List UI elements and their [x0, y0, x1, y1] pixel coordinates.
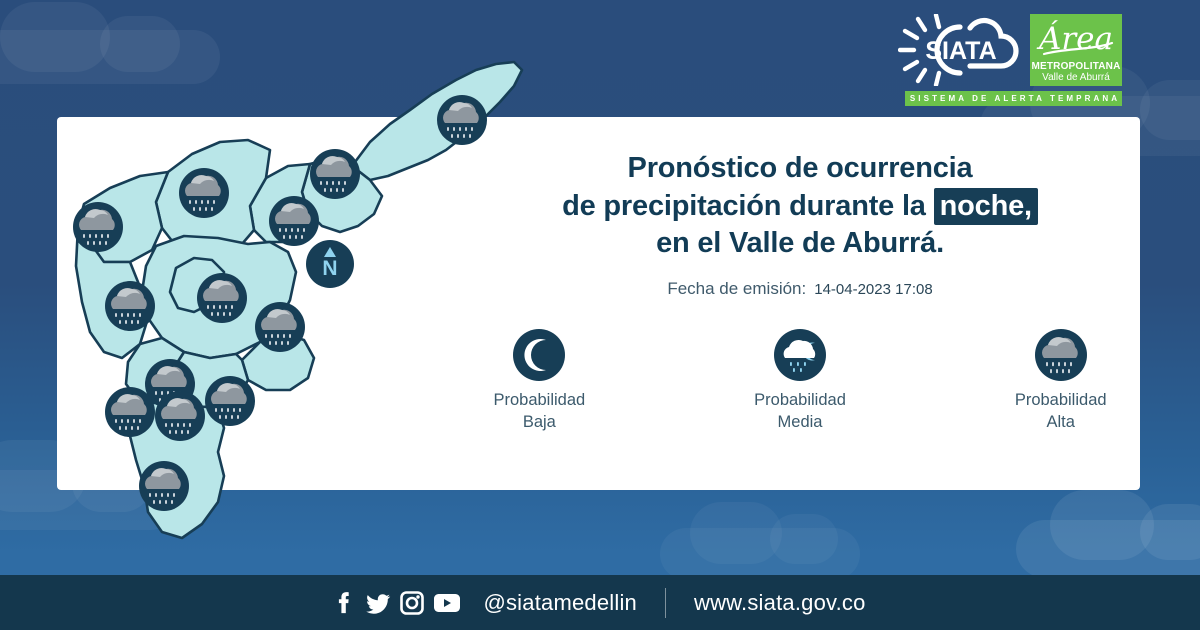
forecast-period-badge: noche, — [934, 188, 1038, 225]
headline-line-2: de precipitación durante la noche, — [470, 188, 1130, 226]
youtube-icon[interactable] — [433, 592, 461, 614]
instagram-icon[interactable] — [400, 591, 424, 615]
page-title: Pronóstico de ocurrencia de precipitació… — [470, 150, 1130, 263]
area-logo-line1: METROPOLITANA — [1031, 62, 1120, 73]
legend-label-alta-line1: Probabilidad — [1015, 391, 1107, 409]
legend-label-baja-line2: Baja — [493, 412, 585, 433]
emission-date-row: Fecha de emisión: 14-04-2023 17:08 — [470, 279, 1130, 299]
moon-icon — [513, 329, 565, 381]
website-url[interactable]: www.siata.gov.co — [694, 590, 866, 616]
map-marker-cloud-heavy-rain-icon[interactable] — [197, 273, 247, 323]
legend-label-media: Probabilidad Media — [754, 390, 846, 433]
probability-legend: Probabilidad Baja — [470, 329, 1130, 433]
area-script-wordmark: Área — [1036, 14, 1116, 62]
siata-wordmark: SIATA — [925, 37, 996, 65]
map-marker-cloud-heavy-rain-icon[interactable] — [73, 202, 123, 252]
background-cloud-icon — [1016, 520, 1200, 578]
map-marker-cloud-heavy-rain-icon[interactable] — [437, 95, 487, 145]
emission-date-value: 14-04-2023 17:08 — [814, 281, 932, 298]
headline-line-1: Pronóstico de ocurrencia — [470, 150, 1130, 188]
tagline-bar: SISTEMA DE ALERTA TEMPRANA — [905, 91, 1122, 106]
legend-item-media: Probabilidad Media — [731, 329, 870, 433]
map-marker-cloud-heavy-rain-icon[interactable] — [205, 376, 255, 426]
legend-label-baja: Probabilidad Baja — [493, 390, 585, 433]
map-marker-cloud-heavy-rain-icon[interactable] — [179, 168, 229, 218]
background-cloud-icon — [660, 528, 860, 580]
map-marker-cloud-heavy-rain-icon[interactable] — [269, 196, 319, 246]
social-handle[interactable]: @siatamedellin — [483, 590, 637, 616]
legend-label-alta-line2: Alta — [1015, 412, 1107, 433]
map-marker-cloud-heavy-rain-icon[interactable] — [255, 302, 305, 352]
map-marker-cloud-heavy-rain-icon[interactable] — [105, 387, 155, 437]
area-script-text: Área — [1036, 19, 1113, 57]
map-svg: N — [52, 46, 532, 566]
area-logo-line2: Valle de Aburrá — [1042, 73, 1110, 84]
forecast-panel: Pronóstico de ocurrencia de precipitació… — [470, 150, 1130, 433]
siata-logo: SIATA — [898, 14, 1020, 86]
legend-label-media-line2: Media — [754, 412, 846, 433]
compass-label: N — [322, 257, 337, 280]
logo-bar: SIATA Área METROPOLITANA Valle de Aburrá… — [898, 14, 1122, 106]
facebook-icon[interactable] — [334, 590, 356, 616]
footer-bar: @siatamedellin www.siata.gov.co — [0, 575, 1200, 630]
map-marker-cloud-heavy-rain-icon[interactable] — [310, 149, 360, 199]
area-script-icon: Área — [1036, 16, 1116, 60]
emission-date-label: Fecha de emisión: — [667, 279, 806, 299]
valle-de-aburra-map: N — [52, 46, 532, 566]
headline-line-2-prefix: de precipitación durante la — [562, 190, 934, 222]
north-arrow-icon: N — [306, 240, 354, 288]
area-metropolitana-logo: Área METROPOLITANA Valle de Aburrá — [1030, 14, 1122, 86]
cloud-moon-rain-icon — [774, 329, 826, 381]
legend-label-baja-line1: Probabilidad — [493, 391, 585, 409]
footer-divider — [665, 588, 666, 618]
map-marker-cloud-heavy-rain-icon[interactable] — [155, 391, 205, 441]
legend-item-baja: Probabilidad Baja — [470, 329, 609, 433]
logo-row: SIATA Área METROPOLITANA Valle de Aburrá — [898, 14, 1122, 86]
legend-label-media-line1: Probabilidad — [754, 391, 846, 409]
headline-line-3: en el Valle de Aburrá. — [470, 225, 1130, 263]
map-marker-cloud-heavy-rain-icon[interactable] — [139, 461, 189, 511]
infographic-canvas: SIATA Área METROPOLITANA Valle de Aburrá… — [0, 0, 1200, 630]
twitter-icon[interactable] — [365, 590, 391, 616]
cloud-heavy-rain-icon — [1035, 329, 1087, 381]
legend-item-alta: Probabilidad Alta — [991, 329, 1130, 433]
legend-label-alta: Probabilidad Alta — [1015, 390, 1107, 433]
social-icons — [334, 590, 461, 616]
map-marker-cloud-heavy-rain-icon[interactable] — [105, 281, 155, 331]
